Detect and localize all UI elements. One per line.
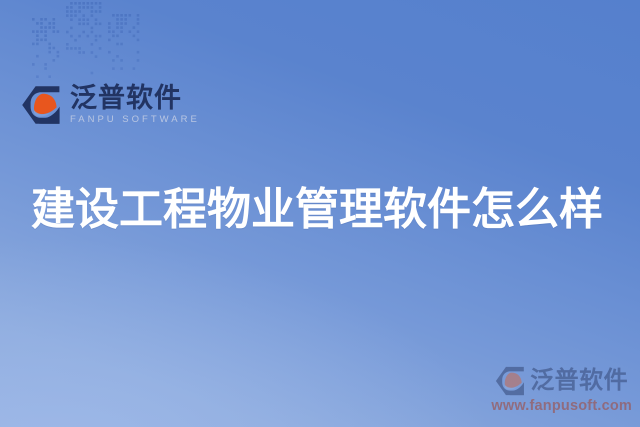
fanpu-logo-icon — [21, 85, 61, 125]
watermark-brand-cn: 泛普软件 — [530, 369, 628, 393]
brand-wordmark: 泛普软件 FANPU SOFTWARE — [70, 85, 200, 124]
watermark-url: www.fanpusoft.com — [491, 399, 632, 414]
page-title: 建设工程物业管理软件怎么样 — [31, 186, 611, 234]
fanpu-watermark-logo-icon — [495, 366, 525, 396]
promo-banner: 泛普软件 FANPU SOFTWARE 建设工程物业管理软件怎么样 泛普软件 w… — [0, 0, 640, 427]
watermark: 泛普软件 www.fanpusoft.com — [491, 366, 632, 414]
pixel-dot-matrix-decoration — [28, 0, 148, 78]
watermark-logo-row: 泛普软件 — [495, 366, 628, 396]
brand-name-en: FANPU SOFTWARE — [70, 115, 200, 125]
brand-logo-lockup[interactable]: 泛普软件 FANPU SOFTWARE — [21, 85, 200, 125]
brand-name-cn: 泛普软件 — [70, 85, 200, 113]
